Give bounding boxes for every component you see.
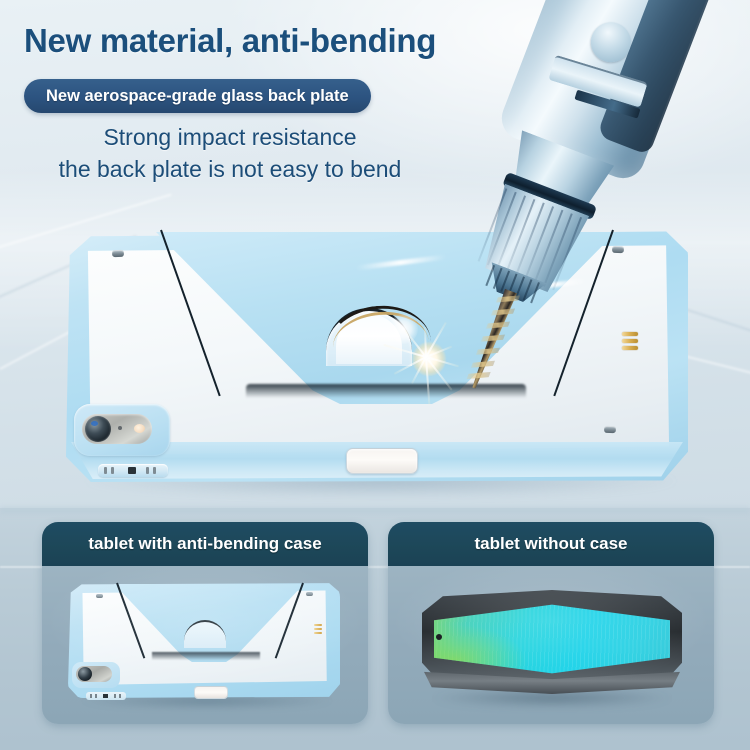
- panel-header-label: tablet without case: [474, 534, 627, 554]
- status-badge-label: New aerospace-grade glass back plate: [46, 87, 349, 106]
- status-badge: New aerospace-grade glass back plate: [24, 79, 371, 113]
- bent-tablet-bottom-edge: [424, 670, 680, 694]
- screw-icon-mini-top-left: [96, 594, 103, 598]
- mini-kickstand-seam-left: [116, 583, 145, 659]
- camera-lens-icon: [85, 416, 111, 442]
- mini-drop-shadow: [82, 692, 332, 710]
- panel-header-label: tablet with anti-bending case: [88, 534, 321, 554]
- mini-kickstand-panel: [114, 584, 304, 662]
- mini-case-shell: [68, 582, 340, 698]
- mini-front-edge-slot: [194, 686, 228, 699]
- bent-screen-texture: [434, 600, 670, 678]
- subtitle-line-1: Strong impact resistance: [0, 124, 460, 151]
- spark-burst-icon: [368, 300, 488, 410]
- bent-tablet-no-case: [416, 586, 688, 708]
- mini-side-buttons: [86, 692, 126, 700]
- hero-side-buttons: [98, 464, 168, 477]
- screw-icon-mini-top-right: [306, 592, 313, 596]
- bent-tablet-frame: [422, 590, 682, 694]
- panel-body-with-case: [42, 566, 368, 724]
- bent-drop-shadow: [430, 688, 674, 708]
- mini-kickstand-finger-notch: [184, 620, 226, 648]
- smart-connector-pins-icon-mini: [314, 624, 323, 636]
- camera-lens-icon-mini: [78, 667, 92, 681]
- flash-icon: [134, 424, 145, 433]
- page-title: New material, anti-bending: [24, 22, 436, 60]
- screw-icon-bottom-right: [604, 426, 616, 433]
- mini-kickstand-seam-right: [275, 583, 304, 659]
- product-image-canvas: New material, anti-bending New aerospace…: [0, 0, 750, 750]
- mini-camera-plate: [72, 662, 120, 688]
- bent-tablet-screen: [434, 600, 670, 678]
- screw-icon-top-left: [112, 250, 124, 257]
- front-camera-icon: [436, 634, 442, 640]
- hero-front-edge-slot: [346, 448, 418, 474]
- smart-connector-pins-icon: [622, 332, 640, 354]
- panel-body-without-case: [388, 566, 714, 724]
- panel-header-without-case: tablet without case: [388, 522, 714, 566]
- mini-camera-module: [76, 666, 112, 682]
- mini-kickstand-base-shadow: [152, 652, 260, 663]
- comparison-panel-without-case: tablet without case: [388, 522, 714, 724]
- comparison-panel-with-case: tablet with anti-bending case: [42, 522, 368, 724]
- microphone-dot-icon: [118, 426, 122, 430]
- subtitle-line-2: the back plate is not easy to bend: [0, 156, 460, 183]
- mini-tablet-with-case: [62, 580, 348, 712]
- mini-back-plate: [80, 589, 328, 689]
- panel-header-with-case: tablet with anti-bending case: [42, 522, 368, 566]
- section-seam: [0, 505, 750, 515]
